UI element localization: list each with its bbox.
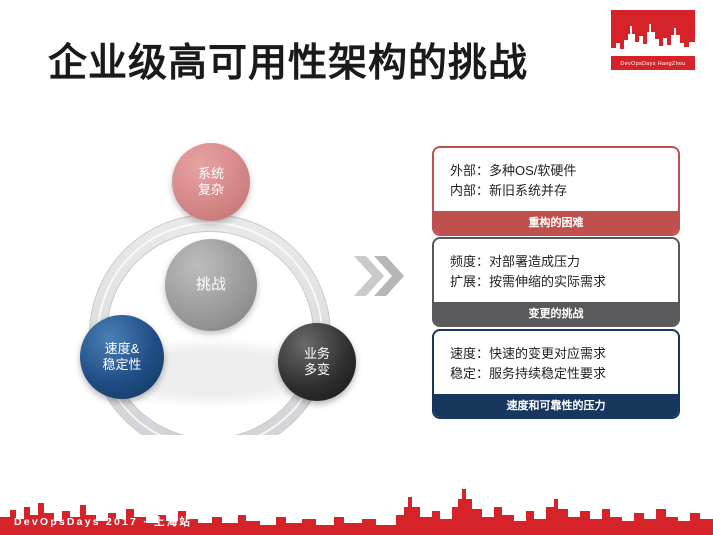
- challenge-card-speed-reliability: 速度：快速的变更对应需求 稳定：服务持续稳定性要求 速度和可靠性的压力: [432, 329, 680, 419]
- logo-text: DevOpsDays HangZhou: [611, 61, 695, 67]
- node-left-line1: 速度&: [105, 341, 140, 357]
- card-0-line-2: 内部：新旧系统并存: [450, 181, 666, 201]
- card-2-line-2: 稳定：服务持续稳定性要求: [450, 364, 666, 384]
- card-2-body: 速度：快速的变更对应需求 稳定：服务持续稳定性要求: [434, 331, 678, 394]
- card-0-line-1: 外部：多种OS/软硬件: [450, 161, 666, 181]
- card-0-footer: 重构的困难: [434, 211, 678, 234]
- challenge-card-refactoring: 外部：多种OS/软硬件 内部：新旧系统并存 重构的困难: [432, 146, 680, 236]
- node-right-line1: 业务: [304, 346, 330, 362]
- node-top-line1: 系统: [198, 166, 224, 182]
- logo-skyline-icon: [611, 22, 695, 56]
- diagram-node-center: 挑战: [165, 239, 257, 331]
- diagram-node-business-change: 业务 多变: [278, 323, 356, 401]
- slide-footer: DevOpsDays 2017 · 上海站: [0, 477, 713, 535]
- card-0-body: 外部：多种OS/软硬件 内部：新旧系统并存: [434, 148, 678, 211]
- card-1-line-2: 扩展：按需伸缩的实际需求: [450, 272, 666, 292]
- node-top-line2: 复杂: [198, 182, 224, 198]
- card-1-line-1: 频度：对部署造成压力: [450, 252, 666, 272]
- card-2-footer: 速度和可靠性的压力: [434, 394, 678, 417]
- card-1-footer: 变更的挑战: [434, 302, 678, 325]
- node-center-label: 挑战: [196, 276, 226, 295]
- challenge-card-change: 频度：对部署造成压力 扩展：按需伸缩的实际需求 变更的挑战: [432, 237, 680, 327]
- card-2-line-1: 速度：快速的变更对应需求: [450, 344, 666, 364]
- card-1-body: 频度：对部署造成压力 扩展：按需伸缩的实际需求: [434, 239, 678, 302]
- page-title: 企业级高可用性架构的挑战: [48, 32, 528, 88]
- diagram-node-speed-stability: 速度& 稳定性: [80, 315, 164, 399]
- challenge-diagram: 挑战 系统 复杂 速度& 稳定性 业务 多变: [20, 125, 380, 435]
- node-right-line2: 多变: [304, 362, 330, 378]
- footer-text: DevOpsDays 2017 · 上海站: [14, 514, 192, 529]
- devopsdays-logo: DevOpsDays HangZhou: [611, 10, 695, 70]
- node-left-line2: 稳定性: [102, 357, 141, 373]
- chevron-right-arrow-icon: [352, 252, 412, 300]
- diagram-node-system-complexity: 系统 复杂: [172, 143, 250, 221]
